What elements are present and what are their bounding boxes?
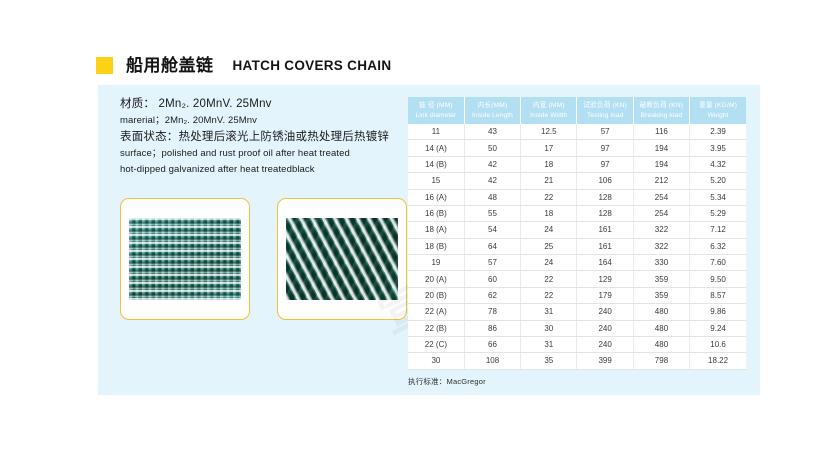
table-cell: 30 [408, 353, 464, 369]
spec-table-wrap: 链 径 (MM) Link diameter 内长(MM) Inside Len… [408, 97, 746, 387]
table-cell: 128 [577, 205, 633, 221]
table-cell: 16 (A) [408, 189, 464, 205]
table-cell: 22 (B) [408, 320, 464, 336]
table-cell: 7.60 [690, 255, 746, 271]
spec-table: 链 径 (MM) Link diameter 内长(MM) Inside Len… [408, 97, 746, 370]
table-row: 14 (B)4218971944.32 [408, 156, 746, 172]
table-cell: 480 [633, 304, 689, 320]
table-cell: 21 [521, 173, 577, 189]
table-cell: 78 [464, 304, 520, 320]
table-cell: 17 [521, 140, 577, 156]
table-row: 16 (B)55181282545.29 [408, 205, 746, 221]
table-cell: 18 [521, 156, 577, 172]
table-row: 20 (A)60221293599.50 [408, 271, 746, 287]
spec-material-cn: 材质： 2Mn₂. 20MnV. 25Mnv [120, 96, 420, 113]
table-cell: 359 [633, 271, 689, 287]
table-cell: 161 [577, 222, 633, 238]
table-cell: 31 [521, 336, 577, 352]
table-cell: 194 [633, 156, 689, 172]
table-cell: 9.50 [690, 271, 746, 287]
page-title: 船用舱盖链 HATCH COVERS CHAIN [96, 57, 391, 74]
table-cell: 31 [521, 304, 577, 320]
table-cell: 798 [633, 353, 689, 369]
table-cell: 161 [577, 238, 633, 254]
table-cell: 24 [521, 255, 577, 271]
table-cell: 106 [577, 173, 633, 189]
table-cell: 12.5 [521, 124, 577, 140]
table-cell: 43 [464, 124, 520, 140]
table-cell: 18 (B) [408, 238, 464, 254]
table-cell: 24 [521, 222, 577, 238]
table-cell: 54 [464, 222, 520, 238]
table-cell: 8.57 [690, 287, 746, 303]
table-cell: 9.86 [690, 304, 746, 320]
product-photo-frame-1[interactable] [120, 198, 250, 320]
table-cell: 57 [464, 255, 520, 271]
table-row: 14 (A)5017971943.95 [408, 140, 746, 156]
table-row: 1542211062125.20 [408, 173, 746, 189]
spec-surface-cn: 表面状态：热处理后滚光上防锈油或热处理后热镀锌 [120, 129, 420, 146]
product-photo-gallery [120, 198, 407, 320]
spec-surface-en-2: hot-dipped galvanized after heat treated… [120, 162, 420, 178]
table-row: 301083539979818.22 [408, 353, 746, 369]
table-cell: 16 (B) [408, 205, 464, 221]
table-cell: 97 [577, 140, 633, 156]
table-cell: 399 [577, 353, 633, 369]
table-cell: 50 [464, 140, 520, 156]
table-cell: 18 [521, 205, 577, 221]
table-cell: 48 [464, 189, 520, 205]
table-cell: 254 [633, 189, 689, 205]
table-cell: 240 [577, 336, 633, 352]
table-cell: 22 [521, 271, 577, 287]
table-cell: 66 [464, 336, 520, 352]
table-cell: 22 (A) [408, 304, 464, 320]
table-cell: 86 [464, 320, 520, 336]
table-cell: 129 [577, 271, 633, 287]
table-cell: 2.39 [690, 124, 746, 140]
table-cell: 20 (B) [408, 287, 464, 303]
table-cell: 60 [464, 271, 520, 287]
table-cell: 330 [633, 255, 689, 271]
table-row: 16 (A)48221282545.34 [408, 189, 746, 205]
spec-table-body: 114312.5571162.3914 (A)5017971943.9514 (… [408, 124, 746, 369]
table-row: 18 (A)54241613227.12 [408, 222, 746, 238]
table-cell: 22 (C) [408, 336, 464, 352]
content-panel: 材质： 2Mn₂. 20MnV. 25Mnv marerial；2Mn₂. 20… [98, 85, 760, 395]
table-cell: 480 [633, 336, 689, 352]
table-cell: 5.34 [690, 189, 746, 205]
table-row: 22 (C)663124048010.6 [408, 336, 746, 352]
table-header-weight: 重量 (KG/M) Weight [690, 97, 746, 124]
table-cell: 194 [633, 140, 689, 156]
table-cell: 22 [521, 287, 577, 303]
table-header-breaking-load: 破断负荷 (KN) Breaking load [633, 97, 689, 124]
table-cell: 14 (A) [408, 140, 464, 156]
table-cell: 164 [577, 255, 633, 271]
table-cell: 20 (A) [408, 271, 464, 287]
table-cell: 10.6 [690, 336, 746, 352]
table-header-row: 链 径 (MM) Link diameter 内长(MM) Inside Len… [408, 97, 746, 124]
table-standard-note: 执行标准：MacGregor [408, 376, 746, 387]
table-cell: 30 [521, 320, 577, 336]
title-marker-square-icon [96, 57, 113, 74]
table-cell: 35 [521, 353, 577, 369]
table-cell: 14 (B) [408, 156, 464, 172]
catalog-page: 船用舱盖链 HATCH COVERS CHAIN 材质： 2Mn₂. 20MnV… [0, 0, 830, 460]
spec-material-en: marerial；2Mn₂. 20MnV. 25Mnv [120, 113, 420, 129]
table-cell: 57 [577, 124, 633, 140]
table-cell: 25 [521, 238, 577, 254]
spec-surface-en-1: surface；polished and rust proof oil afte… [120, 146, 420, 162]
table-cell: 240 [577, 320, 633, 336]
table-header-inside-width: 内宽 (MM) Inside Width [521, 97, 577, 124]
table-cell: 179 [577, 287, 633, 303]
table-cell: 5.20 [690, 173, 746, 189]
table-cell: 108 [464, 353, 520, 369]
table-cell: 64 [464, 238, 520, 254]
table-cell: 116 [633, 124, 689, 140]
table-cell: 254 [633, 205, 689, 221]
table-header-link-diameter: 链 径 (MM) Link diameter [408, 97, 464, 124]
table-cell: 322 [633, 222, 689, 238]
table-cell: 3.95 [690, 140, 746, 156]
table-cell: 42 [464, 173, 520, 189]
table-row: 20 (B)62221793598.57 [408, 287, 746, 303]
page-title-en: HATCH COVERS CHAIN [233, 59, 392, 73]
table-cell: 55 [464, 205, 520, 221]
table-row: 18 (B)64251613226.32 [408, 238, 746, 254]
table-header-inside-length: 内长(MM) Inside Length [464, 97, 520, 124]
spec-text-block: 材质： 2Mn₂. 20MnV. 25Mnv marerial；2Mn₂. 20… [120, 96, 420, 178]
table-cell: 11 [408, 124, 464, 140]
table-cell: 322 [633, 238, 689, 254]
table-row: 22 (A)78312404809.86 [408, 304, 746, 320]
table-row: 1957241643307.60 [408, 255, 746, 271]
table-cell: 62 [464, 287, 520, 303]
table-cell: 5.29 [690, 205, 746, 221]
table-cell: 18 (A) [408, 222, 464, 238]
table-row: 22 (B)86302404809.24 [408, 320, 746, 336]
chain-photo-horizontal-rows [129, 218, 241, 300]
table-cell: 19 [408, 255, 464, 271]
table-cell: 15 [408, 173, 464, 189]
table-cell: 359 [633, 287, 689, 303]
table-header-testing-load: 试验负荷 (KN) Testing load [577, 97, 633, 124]
table-cell: 480 [633, 320, 689, 336]
table-cell: 22 [521, 189, 577, 205]
table-cell: 42 [464, 156, 520, 172]
table-cell: 4.32 [690, 156, 746, 172]
table-cell: 18.22 [690, 353, 746, 369]
table-cell: 240 [577, 304, 633, 320]
table-cell: 9.24 [690, 320, 746, 336]
product-photo-frame-2[interactable] [277, 198, 407, 320]
table-cell: 7.12 [690, 222, 746, 238]
table-cell: 212 [633, 173, 689, 189]
table-row: 114312.5571162.39 [408, 124, 746, 140]
chain-photo-tangled-pile [286, 218, 398, 300]
table-cell: 128 [577, 189, 633, 205]
table-cell: 6.32 [690, 238, 746, 254]
table-cell: 97 [577, 156, 633, 172]
page-title-cn: 船用舱盖链 [126, 57, 214, 74]
